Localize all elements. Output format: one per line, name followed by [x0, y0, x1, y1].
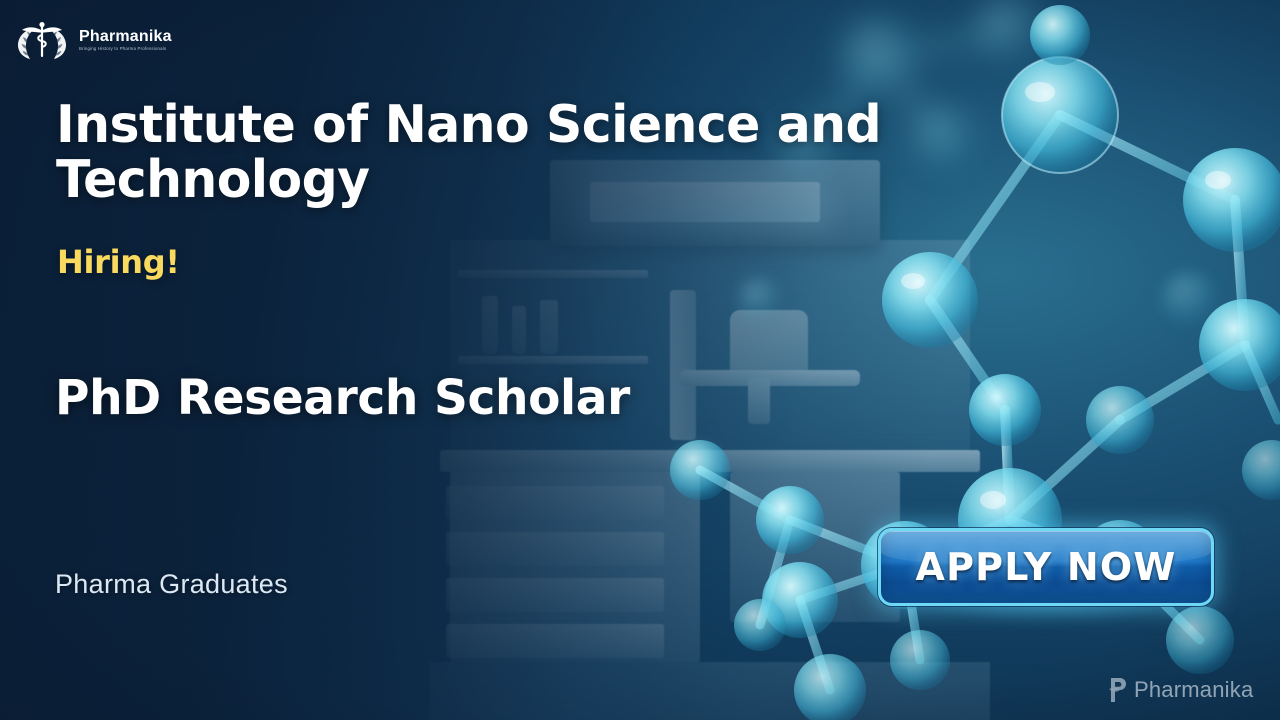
brand-tagline: Bringing History to Pharma Professionals: [79, 47, 172, 51]
watermark-text: Pharmanika: [1134, 677, 1253, 703]
pharmanika-p-icon: [1107, 676, 1129, 704]
laurel-caduceus-icon: [14, 18, 70, 62]
brand-name: Pharmanika: [79, 29, 172, 45]
apply-now-label: APPLY NOW: [916, 545, 1177, 589]
watermark: Pharmanika: [1107, 676, 1253, 704]
page-title: Institute of Nano Science and Technology: [56, 98, 890, 208]
eligibility-text: Pharma Graduates: [55, 569, 288, 600]
recruitment-poster: Pharmanika Bringing History to Pharma Pr…: [0, 0, 1280, 720]
apply-now-button[interactable]: APPLY NOW: [878, 528, 1214, 606]
brand-logo[interactable]: Pharmanika Bringing History to Pharma Pr…: [14, 18, 172, 62]
hiring-label: Hiring!: [57, 243, 180, 281]
job-title: PhD Research Scholar: [55, 370, 630, 426]
apply-now-container[interactable]: APPLY NOW: [878, 528, 1214, 606]
